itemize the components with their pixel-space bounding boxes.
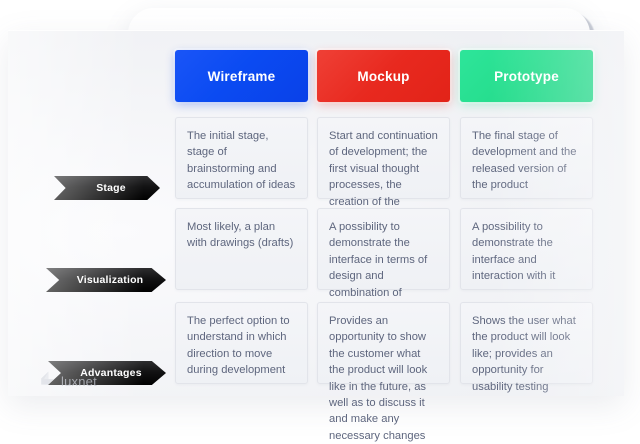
column-header-mockup[interactable]: Mockup — [317, 50, 450, 102]
screenshot-root: Wireframe Mockup Prototype Stage The ini… — [0, 0, 640, 410]
table-cell: The initial stage, stage of brainstormin… — [175, 117, 308, 199]
row-label-text: Visualization — [77, 274, 144, 286]
table-cell: A possibility to demonstrate the interfa… — [317, 208, 450, 290]
table-cell: The final stage of development and the r… — [460, 117, 593, 199]
table-cell: Shows the user what the product will loo… — [460, 302, 593, 384]
logo-text: luxnet — [61, 374, 97, 389]
table-cell: A possibility to demonstrate the interfa… — [460, 208, 593, 290]
row-label-visualization[interactable]: Visualization — [46, 268, 166, 292]
luxnet-mark-icon — [38, 370, 55, 392]
table-cell: Most likely, a plan with drawings (draft… — [175, 208, 308, 290]
table-cell: Start and continuation of development; t… — [317, 117, 450, 199]
table-cell: The perfect option to understand in whic… — [175, 302, 308, 384]
comparison-panel: Wireframe Mockup Prototype Stage The ini… — [8, 30, 624, 396]
brand-logo: luxnet — [38, 370, 97, 392]
row-label-text: Stage — [96, 182, 126, 194]
table-cell: Provides an opportunity to show the cust… — [317, 302, 450, 384]
column-header-prototype[interactable]: Prototype — [460, 50, 593, 102]
column-header-label: Mockup — [357, 69, 409, 84]
comparison-grid: Wireframe Mockup Prototype Stage The ini… — [8, 30, 624, 396]
column-header-wireframe[interactable]: Wireframe — [175, 50, 308, 102]
column-header-label: Prototype — [494, 69, 559, 84]
column-header-label: Wireframe — [208, 69, 276, 84]
row-label-stage[interactable]: Stage — [54, 176, 160, 200]
